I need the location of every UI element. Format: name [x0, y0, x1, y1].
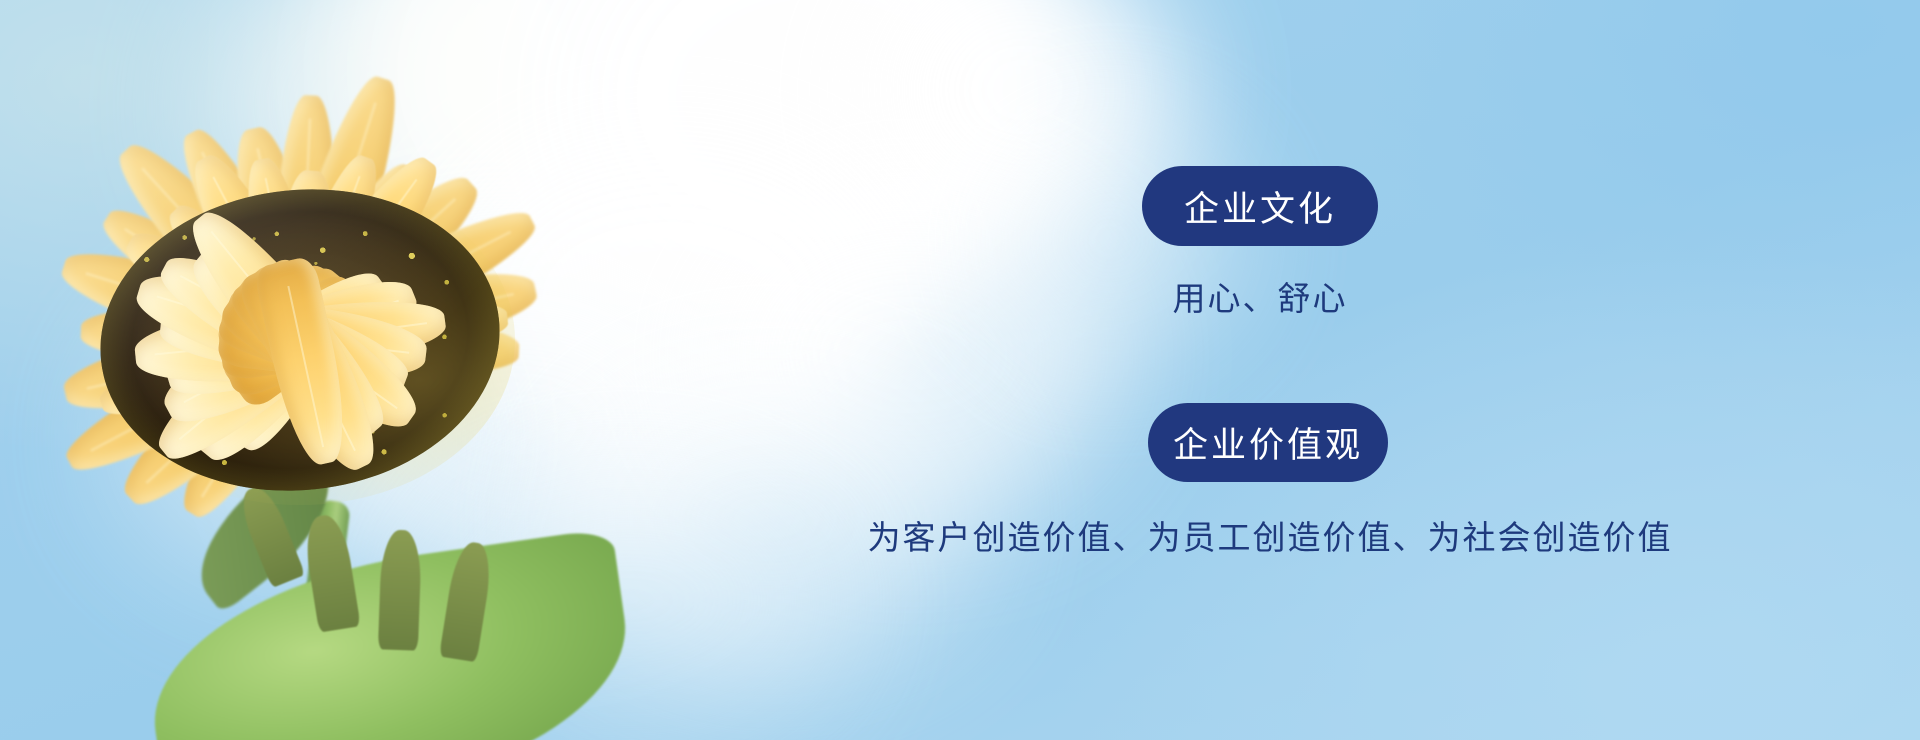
pill-corporate-culture[interactable]: 企业文化 [1142, 166, 1378, 246]
banner-content: 企业文化 用心、舒心 企业价值观 为客户创造价值、为员工创造价值、为社会创造价值 [0, 0, 1920, 740]
subtitle-corporate-values: 为客户创造价值、为员工创造价值、为社会创造价值 [700, 511, 1840, 559]
corporate-culture-banner: 企业文化 用心、舒心 企业价值观 为客户创造价值、为员工创造价值、为社会创造价值 [0, 0, 1920, 740]
pill-corporate-values[interactable]: 企业价值观 [1148, 403, 1388, 482]
subtitle-corporate-culture: 用心、舒心 [1142, 272, 1378, 320]
